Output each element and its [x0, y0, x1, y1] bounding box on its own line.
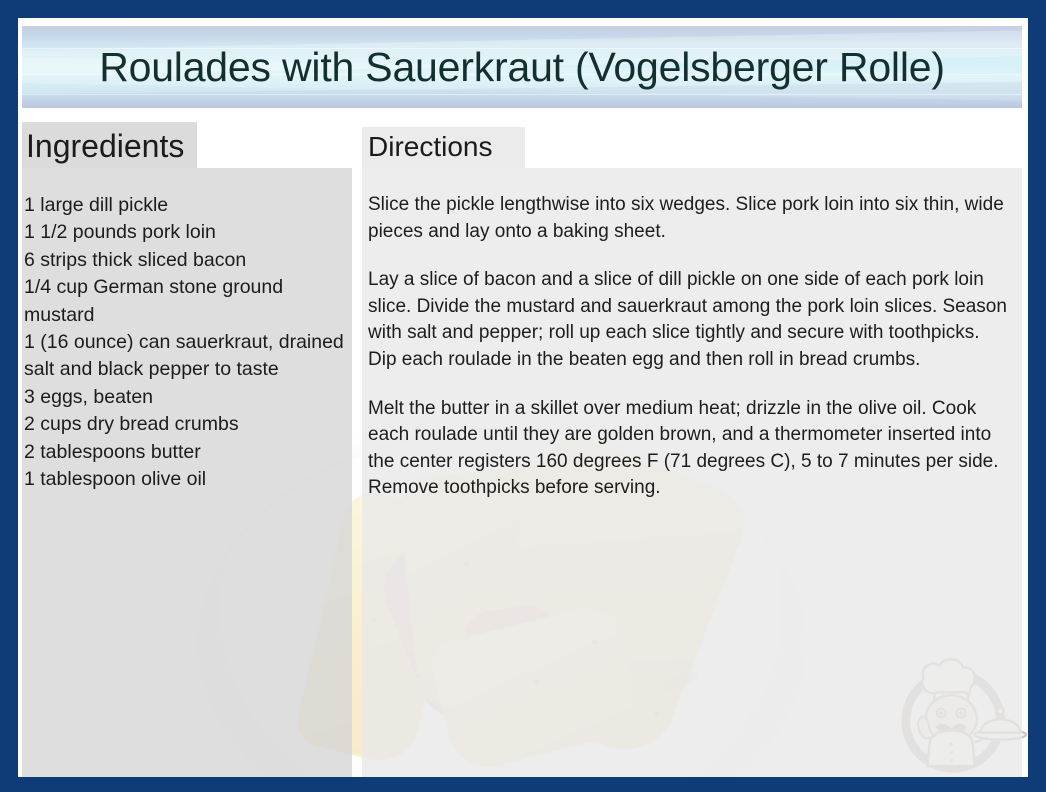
- title-banner: Roulades with Sauerkraut (Vogelsberger R…: [22, 26, 1022, 108]
- ingredient-item: 1/4 cup German stone ground mustard: [24, 274, 346, 329]
- ingredient-item: 1 (16 ounce) can sauerkraut, drained: [24, 329, 346, 356]
- ingredient-item: 3 eggs, beaten: [24, 384, 346, 411]
- direction-paragraph: Slice the pickle lengthwise into six wed…: [368, 192, 1008, 245]
- direction-paragraph: Melt the butter in a skillet over medium…: [368, 396, 1008, 502]
- ingredients-heading: Ingredients: [26, 128, 184, 165]
- recipe-card: Roulades with Sauerkraut (Vogelsberger R…: [0, 0, 1046, 792]
- ingredient-item: 1 1/2 pounds pork loin: [24, 219, 346, 246]
- ingredient-item: 1 large dill pickle: [24, 192, 346, 219]
- ingredient-item: salt and black pepper to taste: [24, 356, 346, 383]
- directions-heading: Directions: [368, 131, 492, 163]
- direction-paragraph: Lay a slice of bacon and a slice of dill…: [368, 267, 1008, 373]
- directions-body: Slice the pickle lengthwise into six wed…: [368, 192, 1008, 502]
- ingredient-item: 2 cups dry bread crumbs: [24, 411, 346, 438]
- ingredient-item: 2 tablespoons butter: [24, 439, 346, 466]
- ingredient-item: 6 strips thick sliced bacon: [24, 247, 346, 274]
- ingredients-list: 1 large dill pickle1 1/2 pounds pork loi…: [24, 192, 346, 493]
- page-title: Roulades with Sauerkraut (Vogelsberger R…: [22, 26, 1022, 108]
- ingredient-item: 1 tablespoon olive oil: [24, 466, 346, 493]
